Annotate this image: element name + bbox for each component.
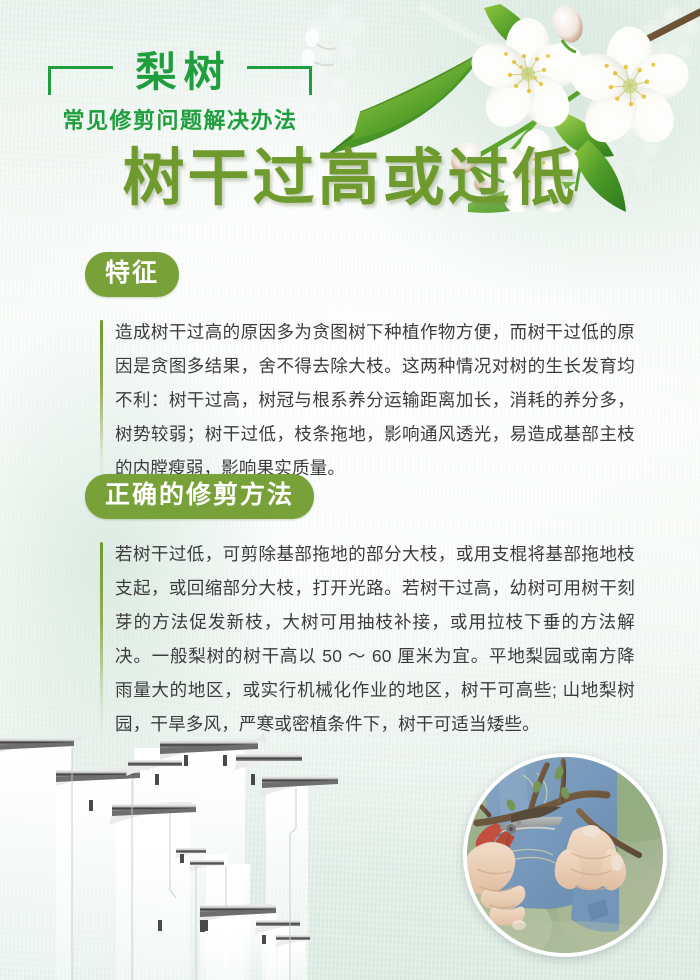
brand-subtitle: 常见修剪问题解决办法	[0, 103, 360, 135]
brand-row: 梨树	[0, 42, 360, 104]
body-block-features: 造成树干过高的原因多为贪图树下种植作物方便，而树干过低的原因是贪图多结果，舍不得…	[100, 315, 635, 485]
pruning-photo	[463, 753, 667, 957]
section-badge-features: 特征	[85, 252, 179, 297]
body-block-method: 若树干过低，可剪除基部拖地的部分大枝，或用支棍将基部拖地枝支起，或回缩部分大枝，…	[100, 537, 635, 741]
section-features: 特征 造成树干过高的原因多为贪图树下种植作物方便，而树干过低的原因是贪图多结果，…	[0, 252, 700, 502]
section-badge-method: 正确的修剪方法	[85, 474, 314, 519]
bracket-left-decoration	[48, 66, 113, 95]
section-method: 正确的修剪方法 若树干过低，可剪除基部拖地的部分大枝，或用支棍将基部拖地枝支起，…	[0, 474, 700, 758]
body-text-features: 造成树干过高的原因多为贪图树下种植作物方便，而树干过低的原因是贪图多结果，舍不得…	[115, 315, 635, 485]
accent-bar-method	[100, 542, 103, 740]
bracket-right-decoration	[247, 66, 312, 95]
poster-root: 梨树 常见修剪问题解决办法 树干过高或过低 特征 造成树干过高的原因多为贪图树下…	[0, 0, 700, 980]
page-title: 树干过高或过低	[0, 148, 700, 210]
accent-bar-features	[100, 320, 103, 484]
header-block: 梨树 常见修剪问题解决办法	[0, 42, 360, 135]
brand-title: 梨树	[123, 42, 238, 102]
body-text-method: 若树干过低，可剪除基部拖地的部分大枝，或用支棍将基部拖地枝支起，或回缩部分大枝，…	[115, 537, 635, 741]
